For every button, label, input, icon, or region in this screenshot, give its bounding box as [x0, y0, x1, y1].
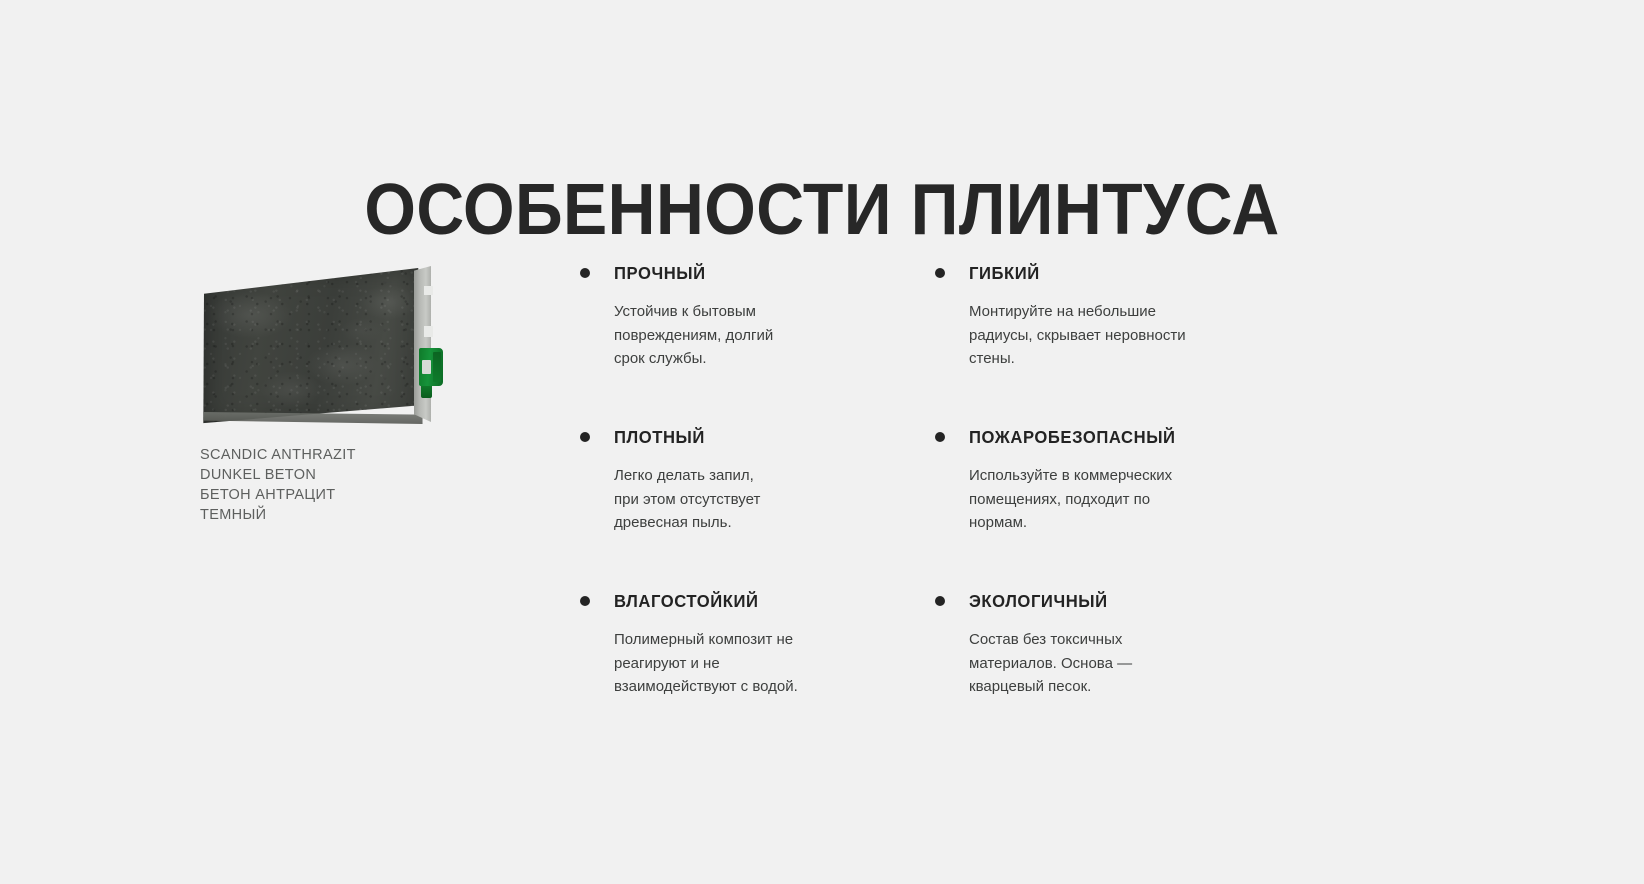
feature-description-line: при этом отсутствует	[614, 488, 864, 512]
feature-description-line: радиусы, скрывает неровности	[969, 324, 1219, 348]
feature-description: Монтируйте на небольшие радиусы, скрывае…	[969, 300, 1219, 371]
feature-description: Полимерный композит не реагируют и не вз…	[614, 628, 864, 699]
board-notch-icon	[424, 326, 433, 337]
feature-description-line: нормам.	[969, 511, 1219, 535]
bullet-dot-icon	[580, 596, 590, 606]
feature-description-line: Используйте в коммерческих	[969, 464, 1219, 488]
feature-description: Состав без токсичных материалов. Основа …	[969, 628, 1219, 699]
feature-title: ПРОЧНЫЙ	[614, 263, 706, 283]
feature-description: Используйте в коммерческих помещениях, п…	[969, 464, 1219, 535]
board-face-texture	[202, 268, 424, 424]
feature-title: ВЛАГОСТОЙКИЙ	[614, 591, 759, 611]
product-caption-line-2: DUNKEL BETON	[200, 465, 530, 485]
feature-description-line: реагируют и не	[614, 652, 864, 676]
product-image-block	[200, 262, 530, 430]
product-caption-line-3: БЕТОН АНТРАЦИТ	[200, 485, 530, 505]
bullet-dot-icon	[580, 432, 590, 442]
feature-header: ВЛАГОСТОЙКИЙ	[580, 590, 925, 612]
feature-section: ОСОБЕННОСТИ ПЛИНТУСА SCANDIC ANTHRAZIT D…	[0, 0, 1644, 884]
bullet-dot-icon	[935, 596, 945, 606]
product-caption-line-1: SCANDIC ANTHRAZIT	[200, 445, 530, 465]
feature-title: ПЛОТНЫЙ	[614, 427, 705, 447]
feature-description-line: помещениях, подходит по	[969, 488, 1219, 512]
feature-header: ГИБКИЙ	[935, 262, 1280, 284]
feature-item: ГИБКИЙ Монтируйте на небольшие радиусы, …	[935, 262, 1280, 426]
feature-description-line: взаимодействуют с водой.	[614, 675, 864, 699]
feature-description: Легко делать запил, при этом отсутствует…	[614, 464, 864, 535]
feature-description: Устойчив к бытовым повреждениям, долгий …	[614, 300, 864, 371]
feature-description-line: кварцевый песок.	[969, 675, 1219, 699]
feature-description-line: Монтируйте на небольшие	[969, 300, 1219, 324]
feature-item: ВЛАГОСТОЙКИЙ Полимерный композит не реаг…	[580, 590, 925, 754]
skirting-board-figure	[200, 262, 450, 430]
feature-item: ПРОЧНЫЙ Устойчив к бытовым повреждениям,…	[580, 262, 925, 426]
skirting-board-icon	[200, 262, 450, 430]
feature-description-line: Полимерный композит не	[614, 628, 864, 652]
feature-item: ПЛОТНЫЙ Легко делать запил, при этом отс…	[580, 426, 925, 590]
clip-body	[419, 348, 443, 386]
green-mounting-clip-icon	[419, 348, 443, 386]
feature-description-line: материалов. Основа —	[969, 652, 1219, 676]
page-title: ОСОБЕННОСТИ ПЛИНТУСА	[66, 171, 1578, 249]
feature-description-line: повреждениям, долгий	[614, 324, 864, 348]
feature-description-line: стены.	[969, 347, 1219, 371]
feature-title: ПОЖАРОБЕЗОПАСНЫЙ	[969, 427, 1176, 447]
product-caption: SCANDIC ANTHRAZIT DUNKEL BETON БЕТОН АНТ…	[200, 445, 530, 525]
feature-header: ЭКОЛОГИЧНЫЙ	[935, 590, 1280, 612]
bullet-dot-icon	[935, 268, 945, 278]
feature-description-line: Состав без токсичных	[969, 628, 1219, 652]
bullet-dot-icon	[580, 268, 590, 278]
feature-title: ГИБКИЙ	[969, 263, 1040, 283]
features-grid: ПРОЧНЫЙ Устойчив к бытовым повреждениям,…	[580, 262, 1280, 754]
feature-description-line: Устойчив к бытовым	[614, 300, 864, 324]
bullet-dot-icon	[935, 432, 945, 442]
feature-header: ПОЖАРОБЕЗОПАСНЫЙ	[935, 426, 1280, 448]
feature-title: ЭКОЛОГИЧНЫЙ	[969, 591, 1108, 611]
feature-item: ЭКОЛОГИЧНЫЙ Состав без токсичных материа…	[935, 590, 1280, 754]
board-notch-icon	[424, 286, 433, 295]
feature-description-line: древесная пыль.	[614, 511, 864, 535]
feature-header: ПРОЧНЫЙ	[580, 262, 925, 284]
feature-description-line: срок службы.	[614, 347, 864, 371]
board-bottom-shadow	[203, 412, 427, 424]
product-caption-line-4: ТЕМНЫЙ	[200, 505, 530, 525]
feature-description-line: Легко делать запил,	[614, 464, 864, 488]
feature-item: ПОЖАРОБЕЗОПАСНЫЙ Используйте в коммерчес…	[935, 426, 1280, 590]
feature-header: ПЛОТНЫЙ	[580, 426, 925, 448]
